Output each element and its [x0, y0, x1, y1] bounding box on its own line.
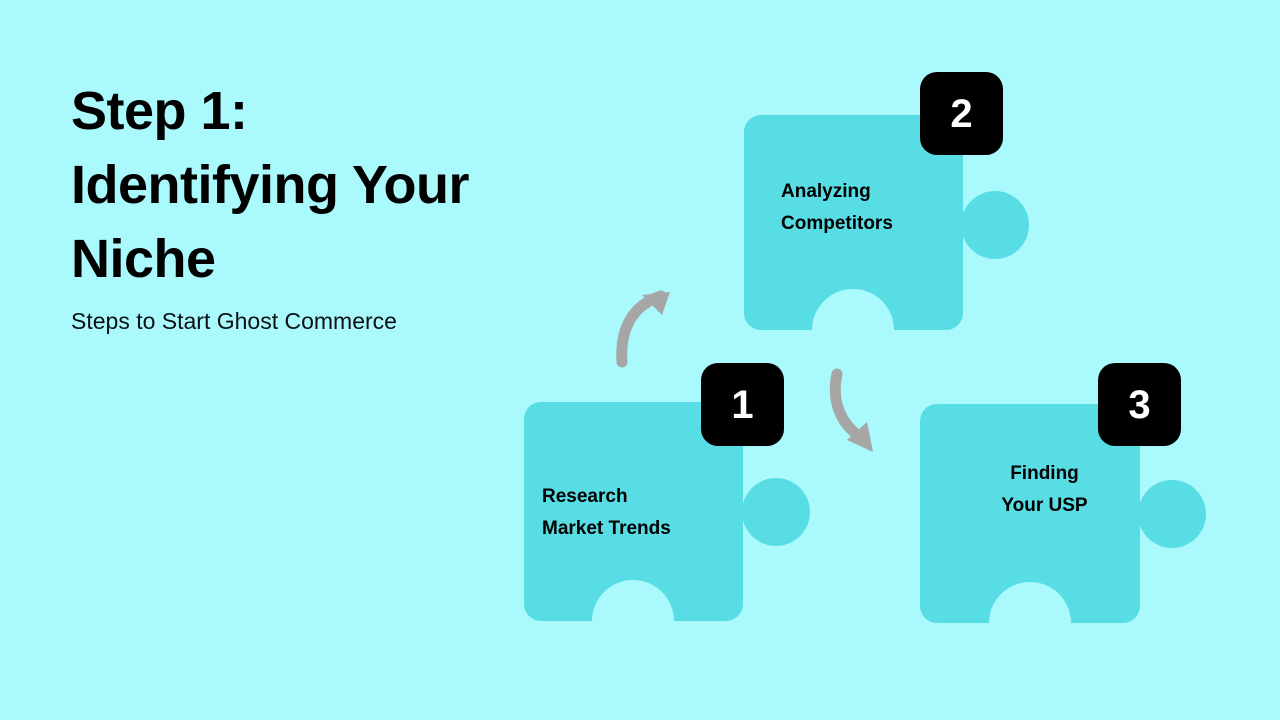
puzzle-piece-label-1: Research Market Trends	[542, 481, 727, 545]
page-subtitle: Steps to Start Ghost Commerce	[71, 306, 541, 336]
step-number-badge-1: 1	[701, 363, 784, 446]
arrow-step1-to-step2	[608, 280, 678, 365]
slide-canvas: Step 1: Identifying Your Niche Steps to …	[0, 0, 1280, 720]
page-title: Step 1: Identifying Your Niche	[71, 74, 541, 296]
arrow-step2-to-step3	[823, 368, 885, 458]
headline-block: Step 1: Identifying Your Niche Steps to …	[71, 74, 541, 336]
step-number-badge-3: 3	[1098, 363, 1181, 446]
puzzle-piece-label-2: Analyzing Competitors	[781, 176, 966, 240]
puzzle-piece-label-3: Finding Your USP	[952, 458, 1137, 522]
step-number-badge-2: 2	[920, 72, 1003, 155]
